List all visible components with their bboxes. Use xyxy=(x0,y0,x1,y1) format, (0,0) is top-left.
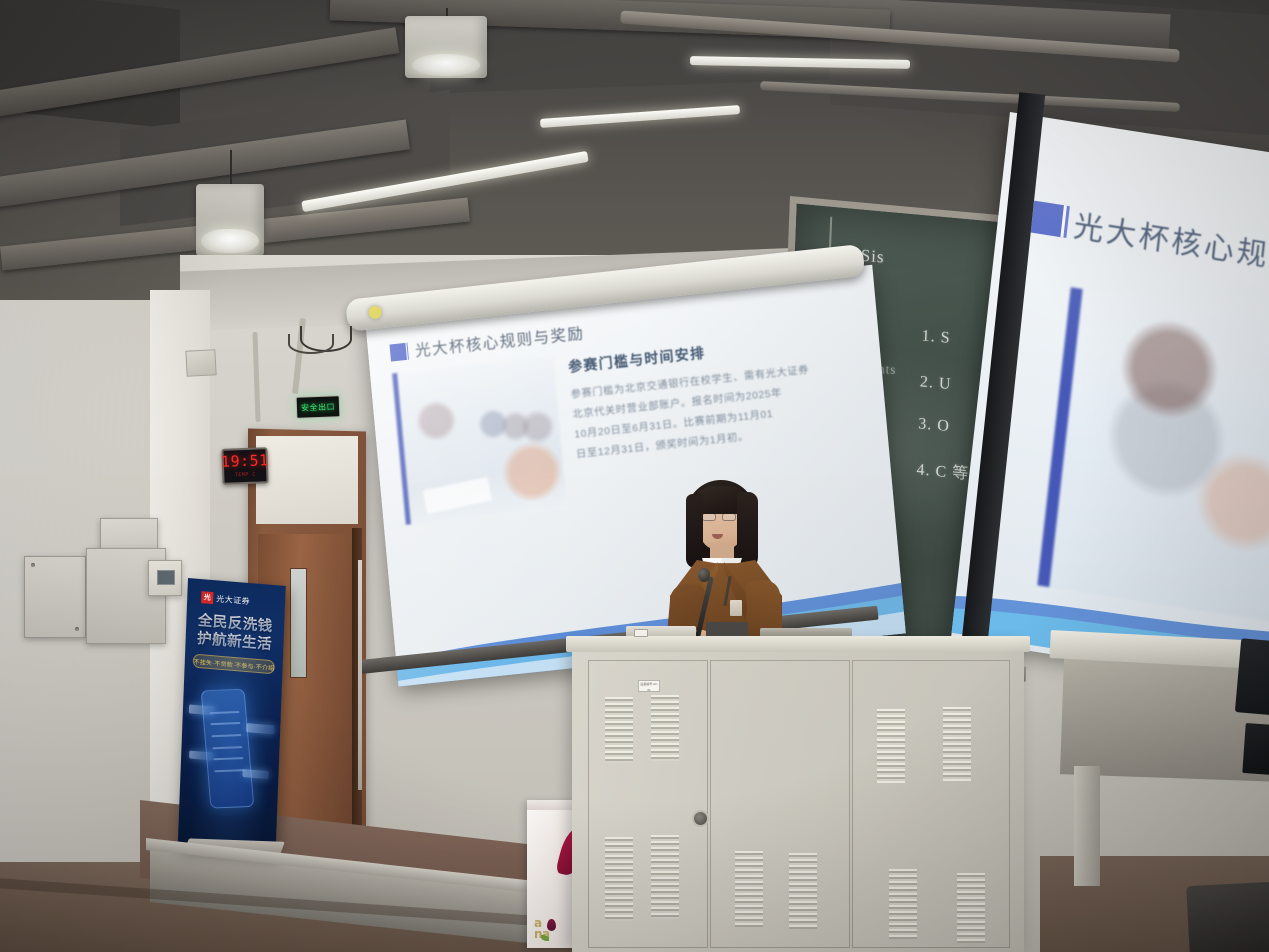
chalk-list-item: 2. U xyxy=(920,373,952,394)
pendant-lens xyxy=(201,229,258,253)
chalk-list-item: 1. S xyxy=(921,327,951,348)
presenter-glasses-lens xyxy=(702,513,716,521)
door-transom-window xyxy=(256,436,358,524)
cabinet-door[interactable] xyxy=(710,660,850,948)
door-push-bar[interactable] xyxy=(358,560,362,790)
exit-sign-label: 安全出口 xyxy=(301,401,335,413)
hanging-cable xyxy=(288,334,334,354)
lecture-hall-scene: 5. Sis 4 elements 1. S 2. U 3. O 4. C 等等… xyxy=(0,0,1269,952)
cabinet-louver xyxy=(789,853,817,929)
cabinet-louver xyxy=(651,695,679,761)
presenter-glasses-lens xyxy=(722,513,736,521)
electrical-panel[interactable] xyxy=(24,556,86,638)
brand-mark-icon: 光 xyxy=(201,591,213,604)
pendant-housing xyxy=(196,184,264,256)
clock-secondary-display: TEMP C xyxy=(235,472,256,479)
cabinet-louver xyxy=(605,697,633,763)
banner-card-graphic xyxy=(189,751,213,761)
banner-card-graphic xyxy=(189,704,215,715)
presenter-hair-side xyxy=(686,494,703,568)
cabinet-lock[interactable] xyxy=(694,812,707,825)
pendant-housing xyxy=(405,16,487,78)
roll-up-banner: 光 光大证券 全民反洗钱 护航新生活 不挂失·不贷款·不参与·不介绍 xyxy=(178,578,286,854)
banner-tagline: 不挂失·不贷款·不参与·不介绍 xyxy=(192,654,275,675)
cabinet-door[interactable] xyxy=(852,660,1010,948)
banner-phone-illustration xyxy=(201,689,255,809)
microphone-head xyxy=(698,568,710,582)
chalk-list-item: 3. O xyxy=(918,415,950,436)
wall-digital-clock: 19:51 TEMP C xyxy=(221,447,268,485)
cabinet-louver xyxy=(735,851,763,927)
banner-brand-logo: 光 光大证券 xyxy=(201,591,285,610)
intercom-panel[interactable] xyxy=(148,560,182,596)
cabinet-louver xyxy=(957,873,985,943)
cabinet-louver xyxy=(877,709,905,783)
secondary-slide-accent-square xyxy=(1031,201,1064,237)
secondary-slide-photo xyxy=(1037,287,1269,623)
side-monitor xyxy=(1242,723,1269,775)
clock-time-display: 19:51 xyxy=(221,453,269,470)
intercom-screen xyxy=(157,570,175,585)
cabinet-door[interactable] xyxy=(588,660,708,948)
cabinet-louver xyxy=(943,707,971,781)
slide-photo xyxy=(392,357,567,525)
electrical-panel[interactable] xyxy=(100,518,158,552)
slide-photo-highlight xyxy=(422,476,491,514)
presenter-badge xyxy=(730,600,742,616)
secondary-slide-title: 光大杯核心规 xyxy=(1072,201,1269,275)
bag-leaf-icon xyxy=(541,935,549,941)
screen-housing-indicator xyxy=(368,305,382,319)
slide-accent-square xyxy=(389,342,406,361)
cabinet-louver xyxy=(605,837,633,921)
cabinet-asset-label: 设备编号 AV-01 xyxy=(638,680,660,692)
side-desk-leg xyxy=(1074,766,1100,886)
emergency-exit-sign: 安全出口 xyxy=(296,395,341,419)
panel-screw xyxy=(31,563,35,567)
panel-screw xyxy=(75,627,79,631)
podium-equipment-cabinet[interactable]: 设备编号 AV-01 xyxy=(572,646,1024,952)
pendant-light xyxy=(405,8,487,84)
podium-countertop xyxy=(566,636,1030,652)
door-glass-panel xyxy=(290,568,307,678)
cabinet-louver xyxy=(889,869,917,939)
cabinet-louver xyxy=(651,835,679,919)
pendant-light xyxy=(196,150,264,270)
pendant-wire xyxy=(446,8,448,16)
side-monitor xyxy=(1235,638,1269,716)
banner-headline: 全民反洗钱 护航新生活 xyxy=(185,611,284,655)
banner-card-graphic xyxy=(242,769,268,779)
wall-junction-box xyxy=(185,349,216,377)
banner-card-graphic xyxy=(246,723,274,734)
pendant-wire xyxy=(230,150,232,184)
bag-dot-icon xyxy=(547,919,556,931)
banner-headline-line2: 护航新生活 xyxy=(185,629,283,655)
banner-headline-line1: 全民反洗钱 xyxy=(186,611,284,637)
side-chair xyxy=(1186,882,1269,952)
pendant-lens xyxy=(412,54,481,75)
desk-power-outlet[interactable] xyxy=(634,629,648,637)
banner-brand-name: 光大证券 xyxy=(216,593,250,607)
secondary-slide-title-row: 光大杯核心规 xyxy=(1030,195,1269,284)
